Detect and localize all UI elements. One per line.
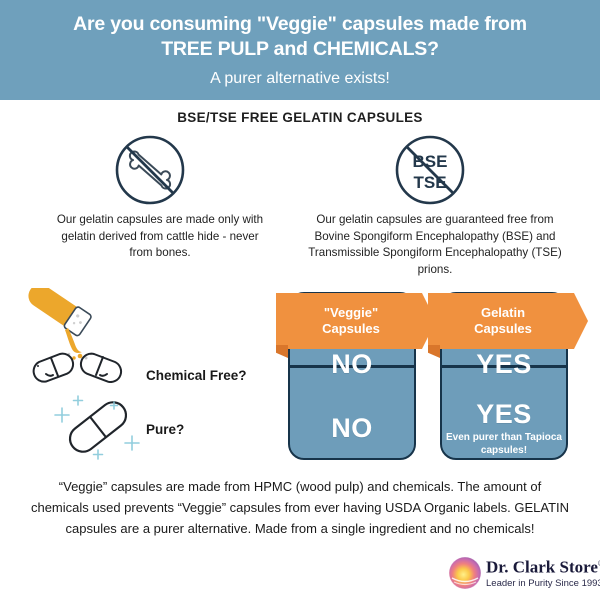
header-headline-line1: Are you consuming "Veggie" capsules made…	[73, 12, 527, 37]
question-label-chemical-free: Chemical Free?	[146, 368, 247, 383]
cell-value: NO	[331, 413, 373, 443]
feature-text-bone: Our gelatin capsules are made only with …	[50, 212, 270, 262]
comparison-header-veggie: "Veggie" Capsules	[276, 293, 436, 349]
logo-brand-name-text: Dr. Clark Store	[486, 558, 598, 577]
ribbon-fold	[428, 345, 440, 358]
brand-logo: Dr. Clark Store® Leader in Purity Since …	[448, 554, 593, 594]
question-label-pure: Pure?	[146, 422, 184, 437]
logo-text-block: Dr. Clark Store® Leader in Purity Since …	[486, 554, 600, 590]
feature-text-bse: Our gelatin capsules are guaranteed free…	[300, 212, 570, 278]
ribbon-label-line2: Capsules	[322, 321, 380, 337]
infographic-page: Are you consuming "Veggie" capsules made…	[0, 0, 600, 600]
sunrise-circle-logo-icon	[448, 556, 482, 590]
no-bse-tse-icon: BSE TSE	[393, 133, 467, 207]
test-tube-pouring-into-capsule-icon	[22, 288, 142, 383]
footer-paragraph: “Veggie” capsules are made from HPMC (wo…	[30, 476, 570, 539]
cell-veggie-pure: NO	[290, 394, 414, 462]
logo-brand-name: Dr. Clark Store®	[486, 554, 600, 578]
comparison-header-gelatin: Gelatin Capsules	[428, 293, 588, 349]
ribbon-label-line1: "Veggie"	[322, 305, 380, 321]
cell-value: NO	[331, 349, 373, 379]
ribbon-label: Gelatin Capsules	[474, 305, 542, 337]
header-subtitle: A purer alternative exists!	[210, 68, 390, 90]
ribbon-label-line2: Capsules	[474, 321, 532, 337]
cell-value: YES	[476, 399, 532, 429]
sparkling-capsule-icon	[48, 392, 148, 462]
cell-gelatin-pure: YES Even purer than Tapioca capsules!	[442, 394, 566, 462]
cell-value: YES	[476, 349, 532, 379]
section-title: BSE/TSE FREE GELATIN CAPSULES	[0, 110, 600, 125]
no-bone-icon	[113, 133, 187, 207]
logo-tagline: Leader in Purity Since 1993	[486, 578, 600, 590]
ribbon-fold	[276, 345, 288, 358]
header-headline-line2: TREE PULP and CHEMICALS?	[161, 37, 439, 62]
header-banner: Are you consuming "Veggie" capsules made…	[0, 0, 600, 100]
cell-note: Even purer than Tapioca capsules!	[442, 431, 566, 457]
ribbon-label: "Veggie" Capsules	[322, 305, 390, 337]
ribbon-label-line1: Gelatin	[474, 305, 532, 321]
